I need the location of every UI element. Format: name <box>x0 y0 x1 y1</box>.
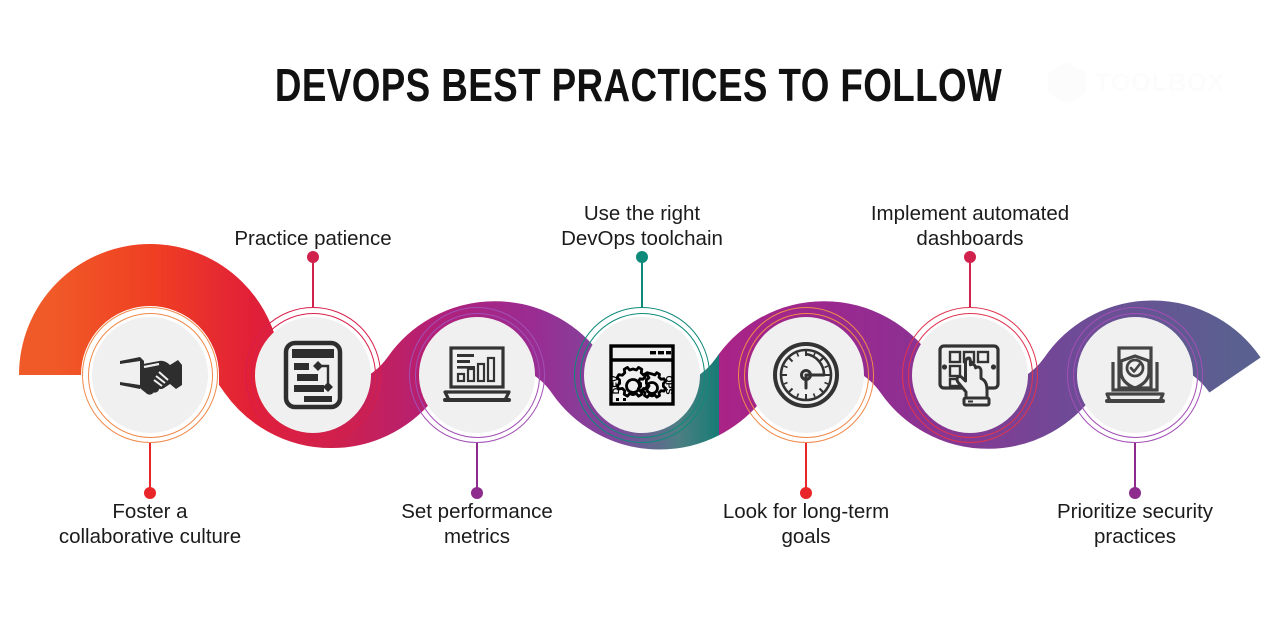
tablet-hand-icon <box>933 338 1007 412</box>
checklist-document-icon <box>276 338 350 412</box>
node-label-look-for-long-term-goals: Look for long-term goals <box>646 499 966 549</box>
connector-dot <box>471 487 483 499</box>
node-label-practice-patience: Practice patience <box>153 226 473 251</box>
svg-text:OPS: OPS <box>664 375 674 394</box>
connector-dot <box>800 487 812 499</box>
connector-dot <box>1129 487 1141 499</box>
connector-line <box>312 259 314 307</box>
svg-text:DEV: DEV <box>611 376 621 395</box>
connector-dot <box>964 251 976 263</box>
connector-line <box>1134 443 1136 491</box>
connector-dot <box>144 487 156 499</box>
gauge-clock-icon <box>769 338 843 412</box>
node-label-implement-automated-dashboards: Implement automated dashboards <box>810 201 1130 251</box>
connector-dot <box>307 251 319 263</box>
node-label-use-the-right-devops-toolchain: Use the right DevOps toolchain <box>482 201 802 251</box>
connector-dot <box>636 251 648 263</box>
laptop-bar-chart-icon <box>440 338 514 412</box>
laptop-shield-check-icon <box>1098 338 1172 412</box>
connector-line <box>149 443 151 491</box>
connector-line <box>476 443 478 491</box>
browser-gears-devops-icon: DEV OPS <box>605 338 679 412</box>
handshake-icon <box>113 338 187 412</box>
connector-line <box>641 259 643 307</box>
node-label-set-performance-metrics: Set performance metrics <box>317 499 637 549</box>
node-label-foster-collaborative-culture: Foster a collaborative culture <box>0 499 310 549</box>
connector-line <box>805 443 807 491</box>
connector-line <box>969 259 971 307</box>
infographic-canvas: DEVOPS BEST PRACTICES TO FOLLOW TOOLBOX <box>0 0 1277 640</box>
node-label-prioritize-security-practices: Prioritize security practices <box>975 499 1277 549</box>
